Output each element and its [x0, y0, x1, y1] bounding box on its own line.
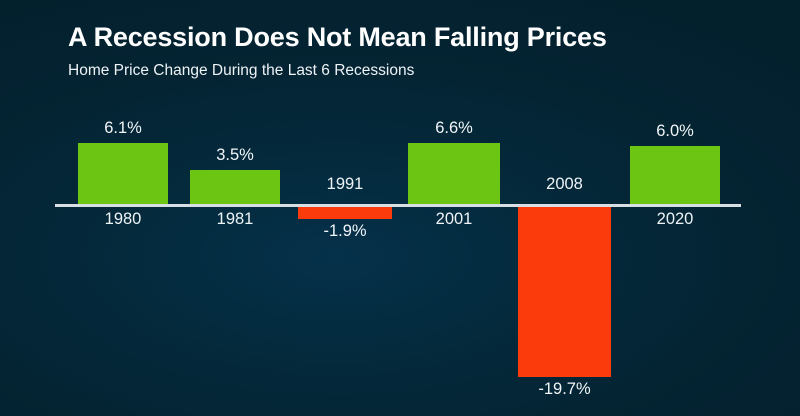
bar-category-label-2020: 2020: [657, 209, 694, 229]
bar-group-1980: 6.1% 1980: [78, 0, 168, 416]
bar-category-label-2008: 2008: [546, 174, 583, 194]
bar-category-label-2001: 2001: [436, 209, 473, 229]
bar-2020: [630, 146, 720, 204]
bar-1981: [190, 170, 280, 204]
bar-value-label-2008: -19.7%: [538, 379, 590, 399]
bar-category-label-1981: 1981: [217, 209, 254, 229]
bar-group-2020: 6.0% 2020: [630, 0, 720, 416]
bar-value-label-2020: 6.0%: [656, 121, 694, 141]
bar-value-label-1991: -1.9%: [323, 221, 366, 241]
bar-group-2008: 2008 -19.7%: [518, 0, 611, 416]
bar-category-label-1980: 1980: [105, 209, 142, 229]
bar-1980: [78, 143, 168, 204]
bar-group-1981: 3.5% 1981: [190, 0, 280, 416]
bar-value-label-1981: 3.5%: [216, 145, 254, 165]
bar-category-label-1991: 1991: [327, 174, 364, 194]
bar-2001: [408, 143, 500, 204]
bar-chart-plot: 6.1% 1980 3.5% 1981 1991 -1.9% 6.6% 2001…: [0, 0, 800, 416]
chart-slide: A Recession Does Not Mean Falling Prices…: [0, 0, 800, 416]
bar-group-1991: 1991 -1.9%: [298, 0, 392, 416]
bar-2008: [518, 207, 611, 377]
bar-value-label-1980: 6.1%: [104, 118, 142, 138]
bar-value-label-2001: 6.6%: [435, 118, 473, 138]
bar-group-2001: 6.6% 2001: [408, 0, 500, 416]
bar-1991: [298, 207, 392, 219]
